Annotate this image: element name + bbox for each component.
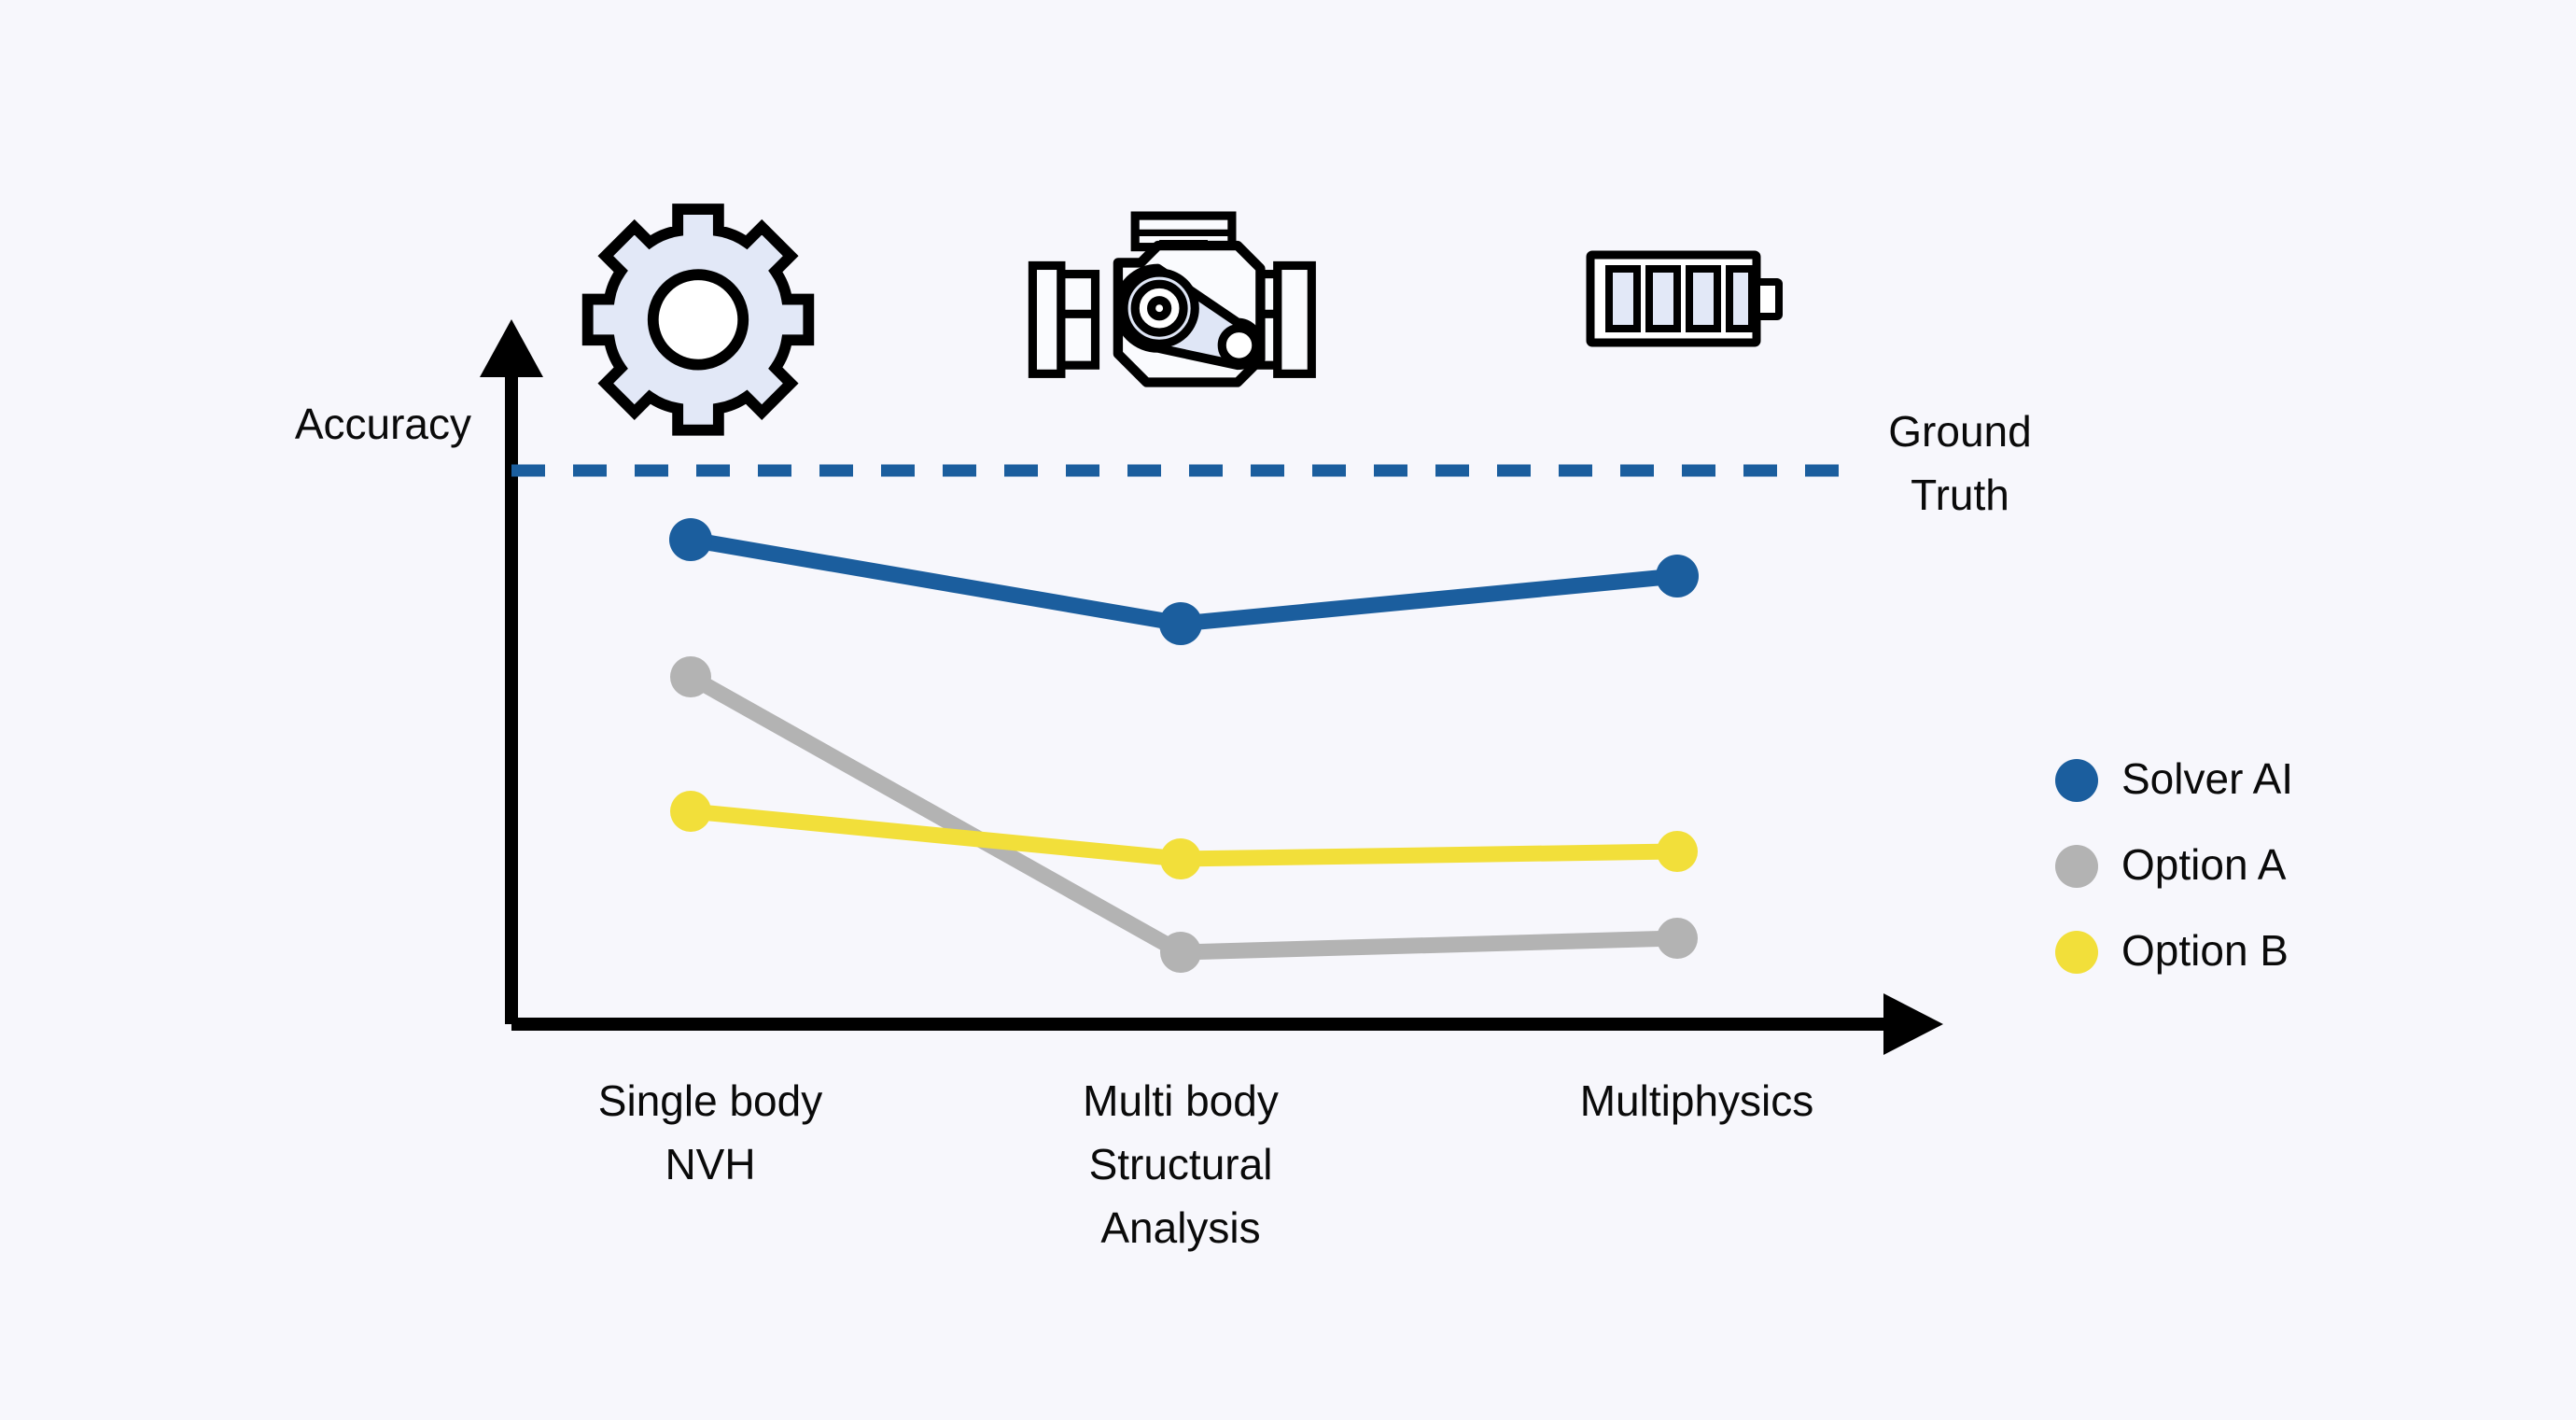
option-b-point-3 bbox=[1657, 831, 1698, 872]
legend-swatch-option-b bbox=[2055, 931, 2098, 974]
legend-label-solver-ai: Solver AI bbox=[2121, 754, 2293, 803]
category-label-2-line-3: Analysis bbox=[1100, 1203, 1260, 1252]
category-label-2-line-2: Structural bbox=[1089, 1140, 1273, 1188]
option-b-point-1 bbox=[670, 791, 711, 832]
legend-label-option-a: Option A bbox=[2121, 840, 2287, 889]
category-label-3-line-1: Multiphysics bbox=[1580, 1076, 1814, 1125]
chart-legend: Solver AI Option A Option B bbox=[2055, 754, 2293, 975]
option-b-point-2 bbox=[1160, 838, 1201, 879]
solver-ai-point-1 bbox=[669, 518, 712, 561]
y-axis-label: Accuracy bbox=[295, 400, 471, 448]
accuracy-comparison-line-chart: Accuracy Ground Truth Single bod bbox=[0, 0, 2576, 1420]
gear-icon bbox=[588, 209, 809, 430]
ground-truth-label-line2: Truth bbox=[1911, 471, 2009, 519]
category-label-2-line-1: Multi body bbox=[1083, 1076, 1279, 1125]
option-a-point-2 bbox=[1160, 932, 1201, 973]
battery-icon bbox=[1590, 255, 1779, 343]
category-label-1-line-1: Single body bbox=[598, 1076, 822, 1125]
chart-background bbox=[0, 0, 2576, 1420]
option-a-point-3 bbox=[1657, 918, 1698, 959]
solver-ai-point-3 bbox=[1656, 555, 1699, 598]
solver-ai-point-2 bbox=[1159, 602, 1202, 645]
category-label-1-line-2: NVH bbox=[665, 1140, 755, 1188]
legend-swatch-solver-ai bbox=[2055, 759, 2098, 802]
ground-truth-label-line1: Ground bbox=[1888, 407, 2031, 456]
option-a-point-1 bbox=[670, 656, 711, 697]
legend-swatch-option-a bbox=[2055, 845, 2098, 888]
chart-canvas: Accuracy Ground Truth Single bod bbox=[0, 0, 2576, 1420]
legend-label-option-b: Option B bbox=[2121, 926, 2289, 975]
